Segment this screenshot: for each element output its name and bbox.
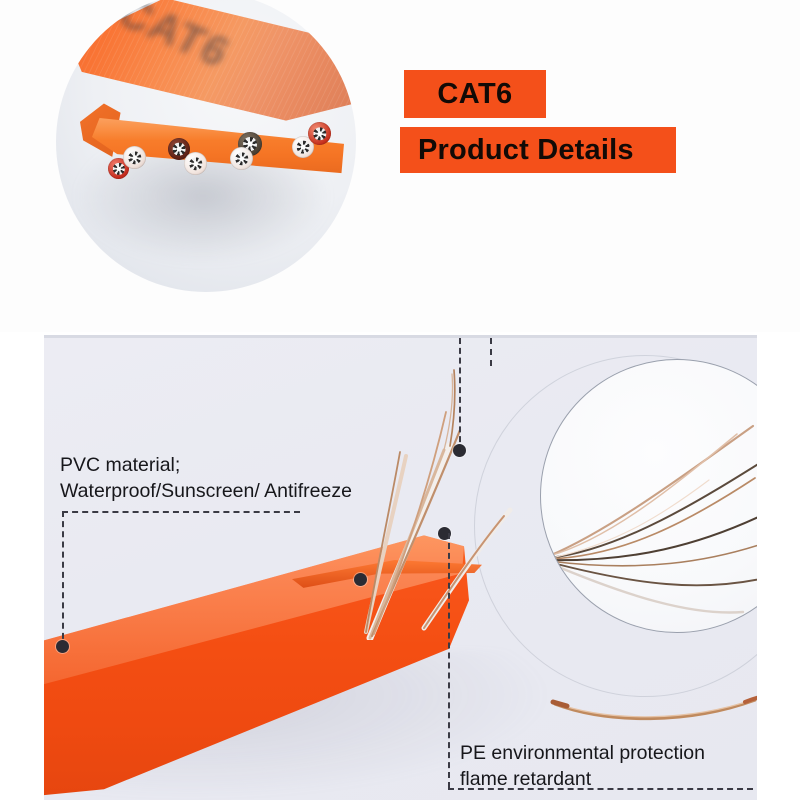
callout-pe-text: PE environmental protection flame retard… <box>460 740 760 792</box>
callout-pvc-leader-vertical <box>62 511 64 649</box>
callout-pvc-leader-horizontal <box>62 511 300 513</box>
cable-cross-section-photo: CAT6 <box>56 0 356 322</box>
conductor-insulated <box>308 122 331 145</box>
panel-top-edge <box>44 335 757 338</box>
top-panel: CAT6 <box>0 0 800 332</box>
callout-pvc-line1: PVC material; <box>60 452 420 478</box>
product-detail-graphic: CAT6 <box>0 0 800 800</box>
callout-pe-leader-vertical <box>448 533 450 788</box>
badge-product-details: Product Details <box>400 127 676 173</box>
callout-pe-line1: PE environmental protection <box>460 740 760 766</box>
conductor-insulated <box>123 146 146 169</box>
callout-pvc-anchor-dot <box>56 640 69 653</box>
callout-pe-anchor-dot-cable <box>354 573 367 586</box>
callout-pvc-text: PVC material; Waterproof/Sunscreen/ Anti… <box>60 452 420 504</box>
badge-cat6-label: CAT6 <box>437 78 512 111</box>
callout-pe-leader-upper-b <box>490 338 492 366</box>
photo-circle-mask: CAT6 <box>56 0 356 292</box>
conductor-insulated <box>184 152 207 175</box>
copper-sample-wire <box>549 690 757 726</box>
conductor-insulated <box>230 147 253 170</box>
callout-pe-leader-upper-a <box>459 338 461 452</box>
callout-pe-anchor-dot-upper <box>453 444 466 457</box>
badge-cat6: CAT6 <box>404 70 546 118</box>
callout-pe-line2: flame retardant <box>460 766 760 792</box>
badge-product-details-label: Product Details <box>418 134 634 167</box>
callout-pvc-line2: Waterproof/Sunscreen/ Antifreeze <box>60 478 420 504</box>
bottom-panel <box>44 335 757 800</box>
cable-slab: CAT6 <box>64 0 356 228</box>
